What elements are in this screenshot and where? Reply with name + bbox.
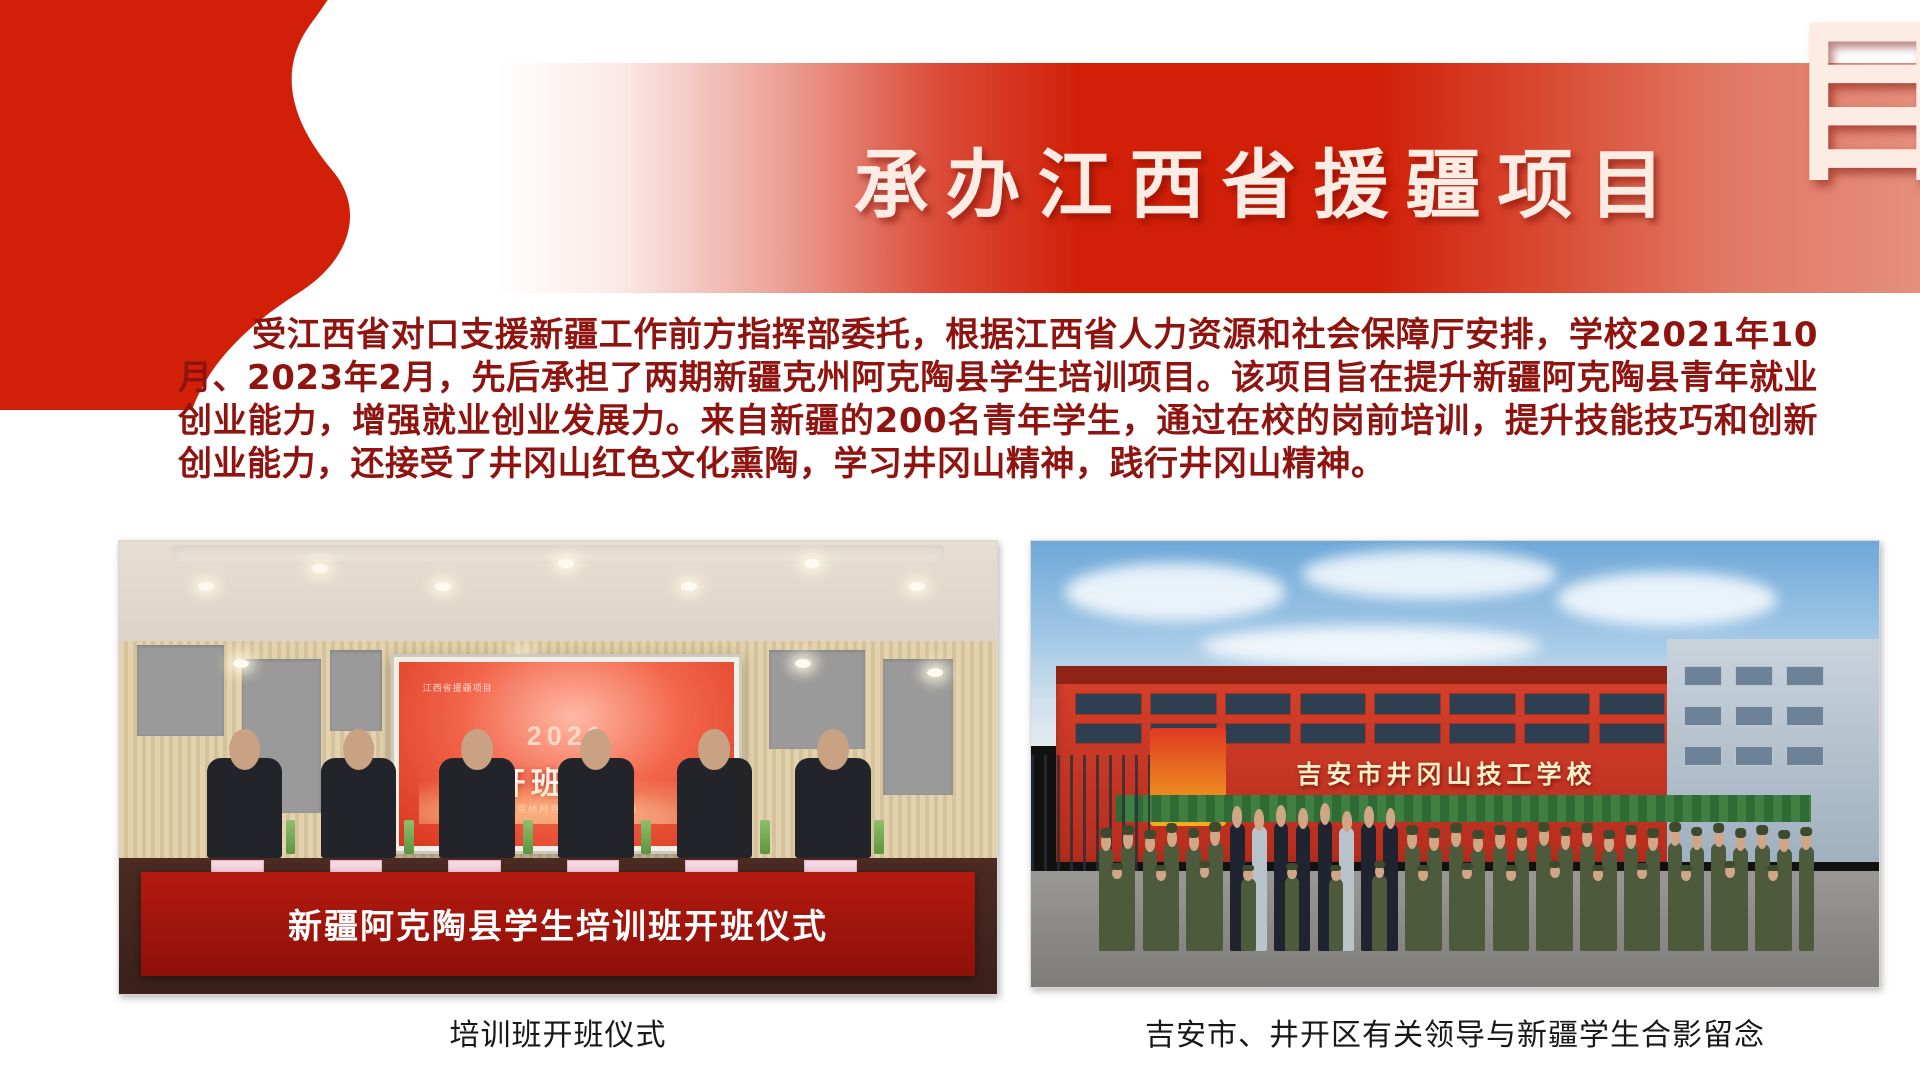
window bbox=[1599, 723, 1666, 745]
downlight bbox=[795, 659, 811, 668]
body-paragraph: 受江西省对口支援新疆工作前方指挥部委托，根据江西省人力资源和社会保障厅安排，学校… bbox=[178, 314, 1818, 486]
window bbox=[1300, 693, 1367, 715]
window bbox=[1225, 693, 1292, 715]
student-kneeling bbox=[1679, 878, 1694, 952]
student-kneeling bbox=[1372, 875, 1387, 951]
window bbox=[1524, 693, 1591, 715]
title-banner: 承办江西省援疆项目 bbox=[495, 63, 1920, 293]
window bbox=[1524, 723, 1591, 745]
water-bottle bbox=[641, 820, 651, 854]
student-kneeling bbox=[1197, 875, 1212, 951]
downlight bbox=[233, 659, 249, 668]
campus-scene: 吉安市井冈山技工学校 bbox=[1031, 541, 1879, 987]
window bbox=[1786, 666, 1824, 686]
window bbox=[1735, 666, 1773, 686]
student-kneeling bbox=[1110, 876, 1125, 951]
window bbox=[1735, 746, 1773, 766]
wall-panel bbox=[883, 659, 953, 795]
photo-caption-left: 培训班开班仪式 bbox=[118, 1010, 998, 1054]
photo-caption-right: 吉安市、井开区有关领导与新疆学生合影留念 bbox=[1030, 1010, 1880, 1054]
student-kneeling bbox=[1591, 878, 1606, 952]
window bbox=[1786, 746, 1824, 766]
window bbox=[1075, 693, 1142, 715]
water-bottle bbox=[404, 820, 414, 854]
downlight bbox=[435, 582, 451, 591]
water-bottle bbox=[286, 820, 296, 854]
body-paragraph-text: 受江西省对口支援新疆工作前方指挥部委托，根据江西省人力资源和社会保障厅安排，学校… bbox=[178, 315, 1818, 484]
photo-opening-ceremony: 江西省援疆项目 2021 开班仪式 新疆克州阿克陶县学生培训班 bbox=[118, 540, 998, 995]
window bbox=[1374, 693, 1441, 715]
water-bottle bbox=[874, 820, 884, 854]
page-title: 承办江西省援疆项目 bbox=[495, 63, 1920, 293]
student-kneeling bbox=[1766, 878, 1781, 952]
student-kneeling bbox=[1285, 876, 1300, 951]
ceiling-recess bbox=[172, 545, 945, 560]
downlight bbox=[198, 582, 214, 591]
water-bottle bbox=[523, 820, 533, 854]
group-of-students bbox=[1099, 818, 1828, 952]
ceremony-banner: 新疆阿克陶县学生培训班开班仪式 bbox=[141, 872, 975, 976]
cloud bbox=[1557, 572, 1777, 626]
student-kneeling bbox=[1329, 878, 1344, 952]
window bbox=[1374, 723, 1441, 745]
downlight bbox=[312, 564, 328, 573]
seated-person bbox=[677, 758, 753, 858]
student-kneeling bbox=[1722, 875, 1737, 951]
student-kneeling bbox=[1504, 878, 1519, 952]
window bbox=[1684, 666, 1722, 686]
ceiling bbox=[119, 541, 997, 650]
seated-person bbox=[207, 758, 283, 858]
screen-year: 2021 bbox=[399, 721, 734, 752]
cloud bbox=[1201, 626, 1540, 666]
window bbox=[1225, 723, 1292, 745]
downlight bbox=[681, 582, 697, 591]
student-kneeling bbox=[1635, 876, 1650, 951]
screen-org-tag: 江西省援疆项目 bbox=[423, 681, 493, 694]
school-name-sign: 吉安市井冈山技工学校 bbox=[1201, 751, 1693, 796]
window bbox=[1599, 693, 1666, 715]
window-row bbox=[1075, 693, 1665, 715]
photo-group-portrait: 吉安市井冈山技工学校 bbox=[1030, 540, 1880, 988]
edge-decorative-glyph: 目 bbox=[1784, 14, 1920, 192]
window bbox=[1786, 706, 1824, 726]
window bbox=[1449, 693, 1516, 715]
window bbox=[1300, 723, 1367, 745]
water-bottle bbox=[760, 820, 770, 854]
seated-person bbox=[558, 758, 634, 858]
window bbox=[1684, 706, 1722, 726]
seated-person bbox=[795, 758, 871, 858]
photo-card-right: 吉安市井冈山技工学校 bbox=[1030, 540, 1880, 988]
downlight bbox=[927, 668, 943, 677]
wall-panel bbox=[769, 650, 866, 750]
conference-room-scene: 江西省援疆项目 2021 开班仪式 新疆克州阿克陶县学生培训班 bbox=[119, 541, 997, 994]
window bbox=[1150, 693, 1217, 715]
window bbox=[1075, 723, 1142, 745]
seated-person bbox=[321, 758, 397, 858]
photo-card-left: 江西省援疆项目 2021 开班仪式 新疆克州阿克陶县学生培训班 bbox=[118, 540, 998, 995]
building-roof bbox=[1056, 666, 1684, 684]
wall-panel bbox=[137, 645, 225, 736]
seated-person bbox=[439, 758, 515, 858]
downlight bbox=[804, 559, 820, 568]
photo-row: 江西省援疆项目 2021 开班仪式 新疆克州阿克陶县学生培训班 bbox=[0, 540, 1920, 1010]
student-kneeling bbox=[1460, 876, 1475, 951]
window bbox=[1735, 706, 1773, 726]
ceremony-banner-text: 新疆阿克陶县学生培训班开班仪式 bbox=[288, 899, 828, 948]
student-kneeling bbox=[1416, 878, 1431, 952]
cloud bbox=[1302, 550, 1556, 599]
cloud bbox=[1065, 563, 1285, 621]
wall-panel bbox=[330, 650, 383, 732]
student bbox=[1799, 846, 1814, 952]
student-kneeling bbox=[1154, 878, 1169, 952]
downlight bbox=[909, 582, 925, 591]
window bbox=[1449, 723, 1516, 745]
slide-canvas: 承办江西省援疆项目 目 受江西省对口支援新疆工作前方指挥部委托，根据江西省人力资… bbox=[0, 0, 1920, 1080]
student-kneeling bbox=[1547, 875, 1562, 951]
student-kneeling bbox=[1241, 878, 1256, 952]
